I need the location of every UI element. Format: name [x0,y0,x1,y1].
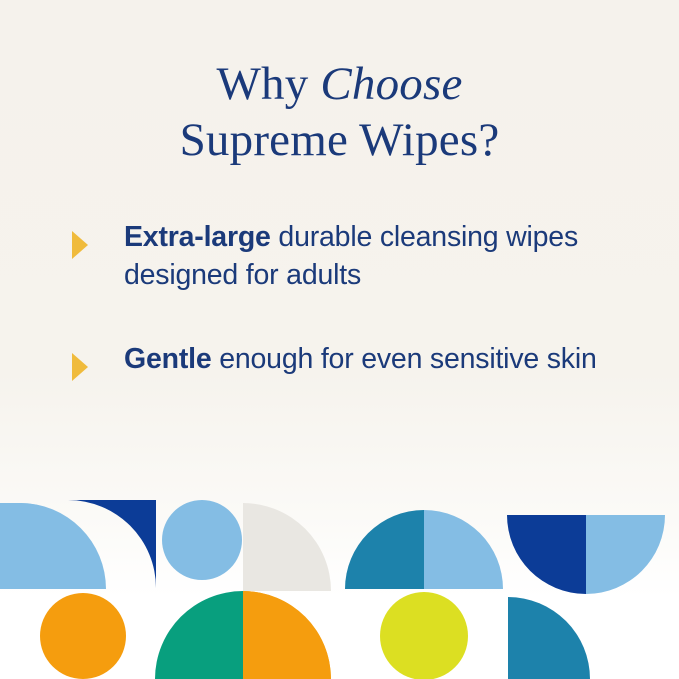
promo-poster: Why Choose Supreme Wipes? Extra-large du… [0,0,679,679]
orange-half-circle-body [243,591,331,679]
green-quarter-circle [155,591,243,679]
light-blue-dome-left-filler [0,503,22,589]
list-item-text: Extra-large durable cleansing wipes desi… [124,218,648,294]
dark-blue-bowl-left-half [507,515,586,594]
yellow-circle [380,592,468,679]
list-item-emphasis: Gentle [124,343,212,375]
list-item: Gentle enough for even sensitive skin [68,340,648,378]
page-title-italic-word: Choose [320,58,462,110]
page-title-line-1: Why Choose [0,56,679,112]
light-blue-right-half-dome [424,510,503,589]
page-title-prefix: Why [216,58,320,110]
benefits-list: Extra-large durable cleansing wipes desi… [68,218,648,424]
dark-blue-notched-square [68,500,156,588]
orange-circle [40,593,126,679]
triangle-right-icon [72,353,88,381]
list-item-text: Gentle enough for even sensitive skin [124,340,648,378]
light-blue-dome-left-body [0,503,106,589]
beige-quarter-circle [243,503,331,591]
light-blue-circle [162,500,242,580]
light-blue-dome-left [0,503,105,589]
page-title: Why Choose Supreme Wipes? [0,56,679,168]
list-item-emphasis: Extra-large [124,221,271,253]
page-title-line-2: Supreme Wipes? [0,112,679,168]
triangle-right-icon [72,231,88,259]
teal-left-half-dome [345,510,424,589]
orange-half-circle [243,591,331,679]
list-item: Extra-large durable cleansing wipes desi… [68,218,648,294]
teal-quarter-circle [508,597,590,679]
list-item-rest: enough for even sensitive skin [212,343,597,375]
light-blue-bowl-right-half [586,515,665,594]
